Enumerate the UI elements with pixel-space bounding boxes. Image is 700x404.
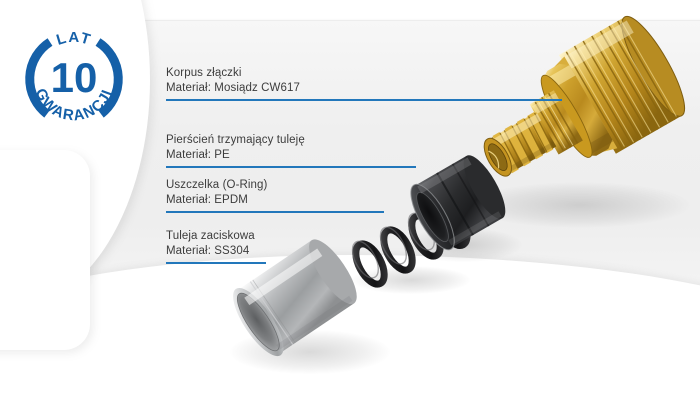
badge-top-text: LAT [54,29,93,49]
callout-tuleja-zaciskowa: Tuleja zaciskowa Materiał: SS304 [166,229,266,264]
svg-text:LAT: LAT [54,29,93,49]
callout-material: Materiał: EPDM [166,193,384,208]
callout-leader-line [166,99,562,101]
badge-backdrop-panel-lower [0,150,90,350]
callout-uszczelka-oring: Uszczelka (O-Ring) Materiał: EPDM [166,178,384,213]
guarantee-badge: LAT GWARANCJI 10 [14,18,134,140]
callout-leader-line [166,166,416,168]
callout-title: Pierścień trzymający tuleję [166,133,416,148]
callout-material: Materiał: PE [166,148,416,163]
callout-leader-line [166,262,266,264]
badge-number: 10 [51,54,98,101]
callout-korpus-zlaczki: Korpus złączki Materiał: Mosiądz CW617 [166,66,562,101]
callout-title: Korpus złączki [166,66,562,81]
callout-material: Materiał: SS304 [166,244,266,259]
callout-pierscien-trzymajacy: Pierścień trzymający tuleję Materiał: PE [166,133,416,168]
callout-material: Materiał: Mosiądz CW617 [166,81,562,96]
brass-fitting-body [466,26,698,212]
callout-leader-line [166,211,384,213]
callout-title: Uszczelka (O-Ring) [166,178,384,193]
product-diagram: LAT GWARANCJI 10 Korpus złączki Materiał… [0,0,700,404]
callout-title: Tuleja zaciskowa [166,229,266,244]
